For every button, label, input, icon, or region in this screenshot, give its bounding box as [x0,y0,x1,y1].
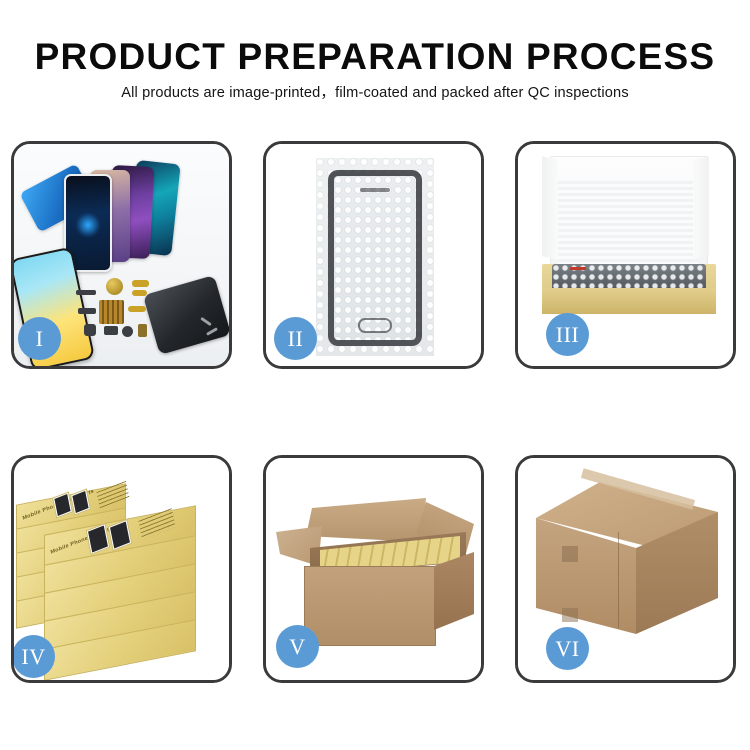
step-badge-4: IV [12,635,55,678]
spare-part-button-image [84,324,96,336]
spare-part-coil-image [106,278,123,295]
spare-part-module-image [104,326,118,335]
spare-part-speaker-image [76,290,96,295]
step-panel-4[interactable]: Mobile Phone Spare Parts [11,455,232,683]
spare-part-flex-c-image [128,306,146,312]
spare-part-vibrator-image [138,324,147,337]
step-badge-2: II [274,317,317,360]
phone-back-housing-image [143,275,229,355]
step-panel-3[interactable]: III [515,141,736,369]
step-badge-1: I [18,317,61,360]
spare-part-connector-image [78,308,96,314]
step-panel-1[interactable]: I [11,141,232,369]
step-panel-2[interactable]: II [263,141,484,369]
spare-part-camera-image [122,326,133,337]
home-button-image [358,318,392,333]
step-badge-3: III [546,313,589,356]
product-preparation-infographic: PRODUCT PREPARATION PROCESS All products… [0,0,750,750]
spare-part-flex-b-image [132,290,147,296]
spare-part-flex-a-image [132,280,149,287]
box-flap-left-image [542,156,558,259]
carton-tab-upper-image [562,546,578,562]
carton-edge-seam-image [618,532,619,628]
kraft-tray-front-image [542,288,716,314]
step-panel-5[interactable]: V [263,455,484,683]
red-tape-image [570,267,586,270]
steps-grid: I II [0,0,750,750]
step-badge-6: VI [546,627,589,670]
step-panel-6[interactable]: VI [515,455,736,683]
foam-liner-image [558,178,698,264]
stacked-box-front-5 [44,634,194,664]
earpiece-slot-image [360,188,390,192]
spare-part-chip-array-image [99,300,124,324]
carton-front-face-image [304,566,436,646]
carton-tab-lower-image [562,608,578,622]
box-flap-right-image [693,156,709,259]
step-badge-5: V [276,625,319,668]
wrapped-screen-image [328,170,422,346]
